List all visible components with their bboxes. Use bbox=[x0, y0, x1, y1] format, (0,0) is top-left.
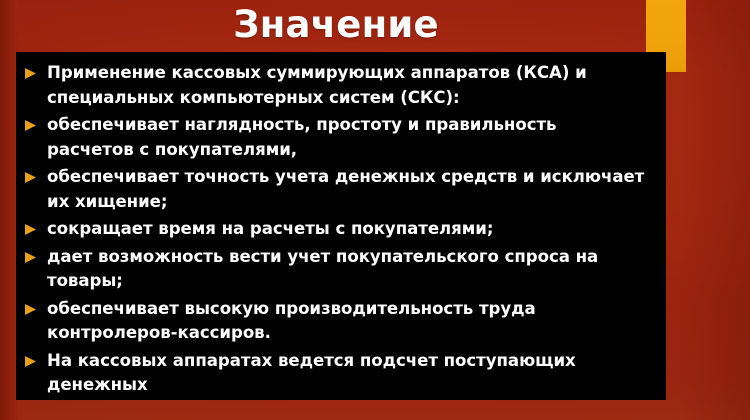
list-item-text: обеспечивает высокую производительность … bbox=[47, 297, 536, 346]
triangle-right-icon bbox=[24, 171, 37, 184]
triangle-right-icon bbox=[24, 355, 37, 368]
slide-right-edge-shade bbox=[680, 0, 750, 420]
list-item-text: сокращает время на расчеты с покупателям… bbox=[47, 217, 493, 242]
triangle-right-icon bbox=[24, 67, 37, 80]
list-item-text: Применение кассовых суммирующих аппарато… bbox=[47, 61, 587, 110]
list-item-text: обеспечивает наглядность, простоту и пра… bbox=[47, 113, 557, 162]
presentation-slide: Значение Применение кассовых суммирующих… bbox=[0, 0, 750, 420]
content-panel: Применение кассовых суммирующих аппарато… bbox=[16, 52, 666, 400]
list-item: На кассовых аппаратах ведется подсчет по… bbox=[22, 349, 656, 398]
list-item: сокращает время на расчеты с покупателям… bbox=[22, 217, 656, 242]
list-item-text: дает возможность вести учет покупательск… bbox=[47, 245, 598, 294]
list-item-text: На кассовых аппаратах ведется подсчет по… bbox=[47, 349, 576, 398]
list-item: обеспечивает высокую производительность … bbox=[22, 297, 656, 346]
list-item: обеспечивает точность учета денежных сре… bbox=[22, 165, 656, 214]
triangle-right-icon bbox=[24, 251, 37, 264]
triangle-right-icon bbox=[24, 223, 37, 236]
list-item: Применение кассовых суммирующих аппарато… bbox=[22, 61, 656, 110]
triangle-right-icon bbox=[24, 303, 37, 316]
bullet-list: Применение кассовых суммирующих аппарато… bbox=[16, 52, 666, 398]
slide-title: Значение bbox=[0, 2, 672, 48]
list-item: обеспечивает наглядность, простоту и пра… bbox=[22, 113, 656, 162]
list-item-text: обеспечивает точность учета денежных сре… bbox=[47, 165, 644, 214]
list-item: дает возможность вести учет покупательск… bbox=[22, 245, 656, 294]
triangle-right-icon bbox=[24, 119, 37, 132]
